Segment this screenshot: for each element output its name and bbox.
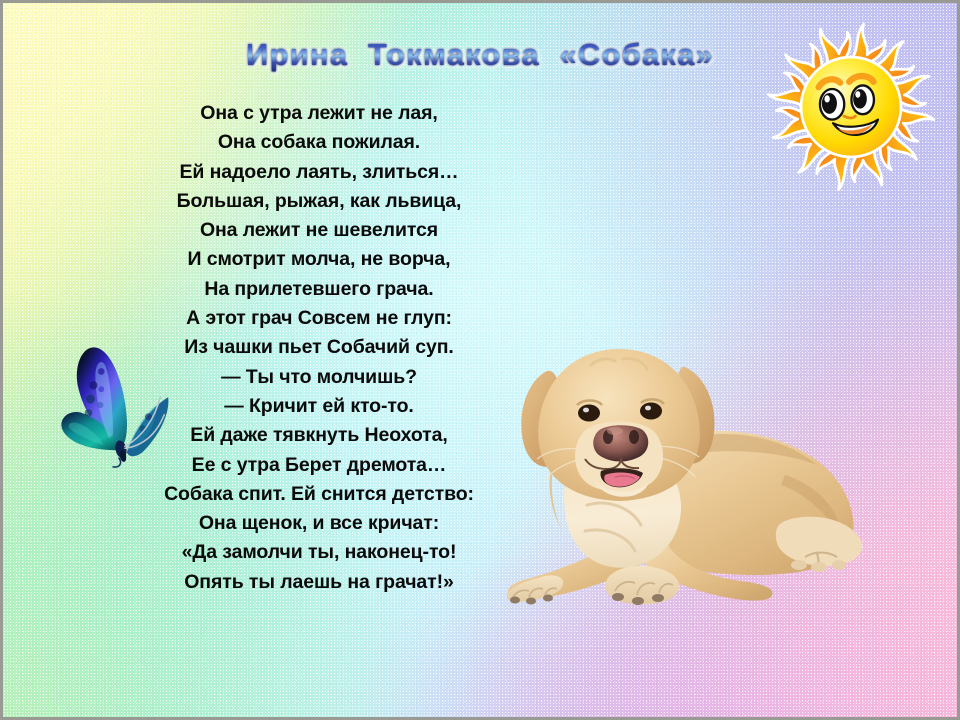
butterfly-icon: [58, 336, 176, 469]
poem-line: И смотрит молча, не ворча,: [17, 245, 621, 274]
poem-line: На прилетевшего грача.: [17, 275, 621, 304]
sun-icon: [761, 17, 941, 197]
poem-line: Она с утра лежит не лая,: [17, 99, 621, 128]
poem-line: Ей надоело лаять, злиться…: [17, 158, 621, 187]
slide-canvas: Ирина Токмакова «Собака» Она с утра лежи…: [0, 0, 960, 720]
dog-photo: [455, 325, 895, 625]
poem-line: Она собака пожилая.: [17, 128, 621, 157]
poem-line: Большая, рыжая, как львица,: [17, 187, 621, 216]
poem-line: Она лежит не шевелится: [17, 216, 621, 245]
